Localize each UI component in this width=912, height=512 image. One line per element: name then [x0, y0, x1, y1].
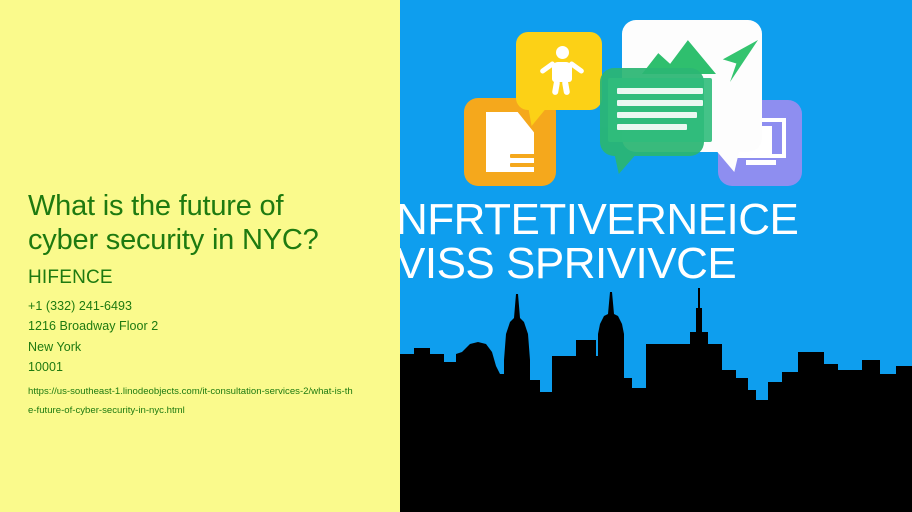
address-city: New York [28, 337, 378, 357]
document-text-line [510, 163, 538, 167]
left-content-block: What is the future of cyber security in … [28, 190, 378, 420]
brand-name: HIFENCE [28, 267, 378, 290]
list-lines-icon [608, 78, 712, 142]
paper-plane-icon [718, 40, 758, 82]
address-street: 1216 Broadway Floor 2 [28, 316, 378, 336]
page-title: What is the future of cyber security in … [28, 190, 378, 257]
address-zip: 10001 [28, 357, 378, 377]
left-info-panel: What is the future of cyber security in … [0, 0, 400, 512]
document-text-line [510, 154, 538, 158]
speech-bubble-celebration-icon [516, 32, 602, 110]
overlay-headline: NFRTETIVERNEICE VISS SPRIVIVCE [400, 198, 912, 286]
city-skyline-silhouette [400, 282, 912, 512]
list-line [617, 88, 703, 94]
list-line [617, 112, 697, 118]
celebrating-person-icon [540, 46, 584, 94]
list-line [617, 100, 703, 106]
speech-bubble-tail [614, 152, 638, 174]
source-url[interactable]: https://us-southeast-1.linodeobjects.com… [28, 383, 358, 420]
monitor-stand [746, 160, 776, 165]
icon-cluster [400, 0, 912, 200]
phone-number: +1 (332) 241-6493 [28, 296, 378, 316]
person-head [556, 46, 569, 59]
right-graphic-panel: NFRTETIVERNEICE VISS SPRIVIVCE [400, 0, 912, 512]
person-leg [552, 80, 561, 96]
list-line [617, 124, 687, 130]
slide-canvas: What is the future of cyber security in … [0, 0, 912, 512]
